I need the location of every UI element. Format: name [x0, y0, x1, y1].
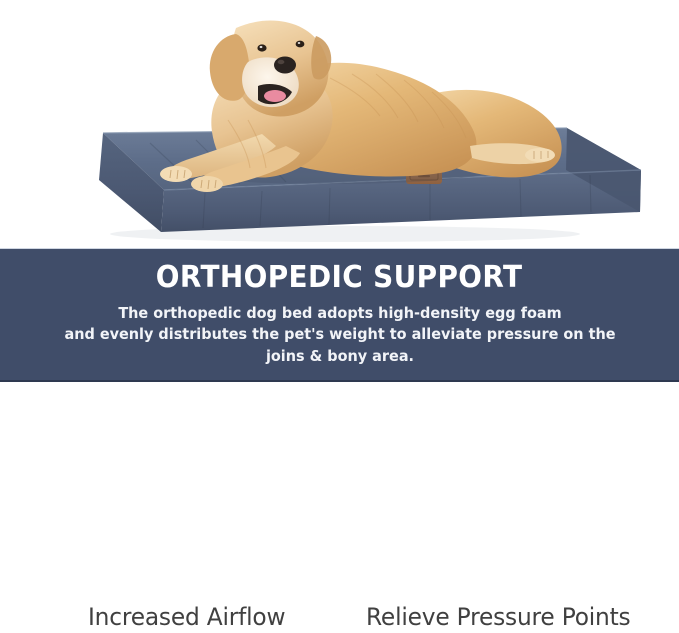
- banner-description: The orthopedic dog bed adopts high-densi…: [45, 303, 634, 368]
- banner-description-line-2: and evenly distributes the pet's weight …: [45, 324, 634, 346]
- dog-paw-1: [160, 166, 192, 182]
- dog-nose: [274, 57, 296, 74]
- golden-retriever-photo-subject: [160, 21, 562, 192]
- egg-foam-diagram-section: [0, 382, 679, 633]
- product-photo: [0, 0, 679, 248]
- dog-tongue: [264, 90, 286, 102]
- dog-paw-2: [191, 176, 223, 192]
- caption-relieve-pressure-points: Relieve Pressure Points: [366, 603, 630, 631]
- banner-description-line-1: The orthopedic dog bed adopts high-densi…: [45, 303, 634, 325]
- egg-foam-diagram: [0, 382, 679, 633]
- dog-right-eye: [296, 41, 305, 48]
- dog-nose-highlight: [278, 60, 285, 64]
- banner-title: ORTHOPEDIC SUPPORT: [156, 262, 523, 294]
- orthopedic-support-banner: ORTHOPEDIC SUPPORT The orthopedic dog be…: [0, 248, 679, 382]
- dog-paw-3: [525, 148, 555, 162]
- product-photo-illustration: [0, 0, 679, 248]
- dog-left-ear: [210, 34, 250, 101]
- caption-increased-airflow: Increased Airflow: [88, 603, 285, 631]
- banner-description-line-3: joins & bony area.: [45, 346, 634, 368]
- product-photo-section: [0, 0, 679, 248]
- dog-left-eye: [257, 44, 266, 51]
